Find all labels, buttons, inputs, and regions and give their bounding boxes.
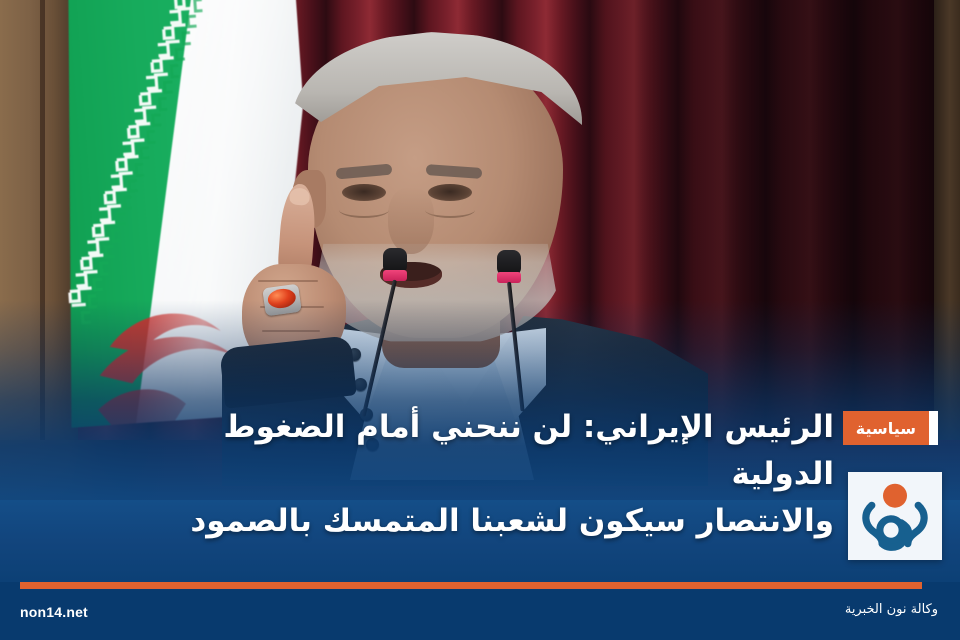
- headline-line-1: الرئيس الإيراني: لن ننحني أمام الضغوط ال…: [144, 404, 834, 498]
- site-url[interactable]: non14.net: [20, 604, 88, 620]
- orange-divider: [20, 582, 922, 589]
- noon-logo-icon: [855, 478, 935, 555]
- agency-name: وكالة نون الخبرية: [845, 602, 938, 617]
- footer-bar: non14.net وكالة نون الخبرية: [0, 582, 960, 640]
- badge-accent-bar: [929, 411, 938, 445]
- fingernail: [289, 187, 310, 205]
- eye-right: [428, 184, 472, 201]
- category-badge[interactable]: سياسية: [843, 411, 942, 445]
- news-card: الرئيس الإيراني: لن ننحني أمام الضغوط ال…: [0, 0, 960, 640]
- nose: [388, 188, 434, 254]
- headline: الرئيس الإيراني: لن ننحني أمام الضغوط ال…: [144, 404, 834, 545]
- agency-logo[interactable]: [848, 472, 942, 560]
- category-badge-label: سياسية: [843, 411, 929, 445]
- knuckle-line: [258, 280, 318, 282]
- headline-line-2: والانتصار سيكون لشعبنا المتمسك بالصمود: [144, 498, 834, 545]
